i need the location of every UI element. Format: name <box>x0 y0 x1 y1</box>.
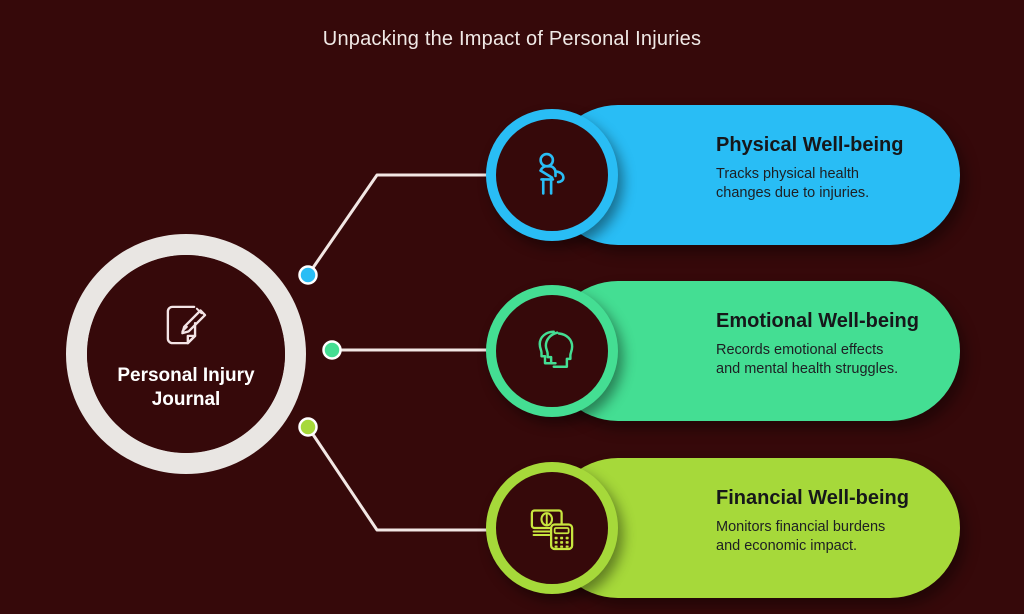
card-text-emotional: Emotional Well-being Records emotional e… <box>716 309 920 379</box>
card-text-physical: Physical Well-being Tracks physical heal… <box>716 133 920 203</box>
journal-pen-icon <box>157 296 215 354</box>
badge-financial <box>486 462 618 594</box>
two-heads-profile-icon <box>524 323 580 379</box>
card-description-physical: Tracks physical health changes due to in… <box>716 165 920 203</box>
card-description-financial: Monitors financial burdens and economic … <box>716 518 920 556</box>
page-title: Unpacking the Impact of Personal Injurie… <box>0 28 1024 51</box>
hub-inner: Personal Injury Journal <box>87 255 285 453</box>
card-text-financial: Financial Well-being Monitors financial … <box>716 486 920 556</box>
card-description-emotional: Records emotional effects and mental hea… <box>716 341 920 379</box>
hub-label: Personal Injury Journal <box>101 364 271 413</box>
connector-line-financial <box>308 427 500 530</box>
card-title-emotional: Emotional Well-being <box>716 309 920 333</box>
hub-node[interactable]: Personal Injury Journal <box>66 234 306 474</box>
card-emotional[interactable]: Emotional Well-being Records emotional e… <box>548 281 960 421</box>
card-financial[interactable]: Financial Well-being Monitors financial … <box>548 458 960 598</box>
money-calculator-icon <box>524 500 580 556</box>
hub-label-line2: Journal <box>101 388 271 412</box>
badge-physical <box>486 109 618 241</box>
person-arm-sling-icon <box>524 147 580 203</box>
hub-label-line1: Personal Injury <box>101 364 271 388</box>
card-physical[interactable]: Physical Well-being Tracks physical heal… <box>548 105 960 245</box>
connector-line-physical <box>308 175 500 275</box>
infographic-canvas: Unpacking the Impact of Personal Injurie… <box>0 0 1024 614</box>
card-title-physical: Physical Well-being <box>716 133 920 157</box>
card-title-financial: Financial Well-being <box>716 486 920 510</box>
badge-emotional <box>486 285 618 417</box>
connector-dot-emotional-start <box>324 342 341 359</box>
